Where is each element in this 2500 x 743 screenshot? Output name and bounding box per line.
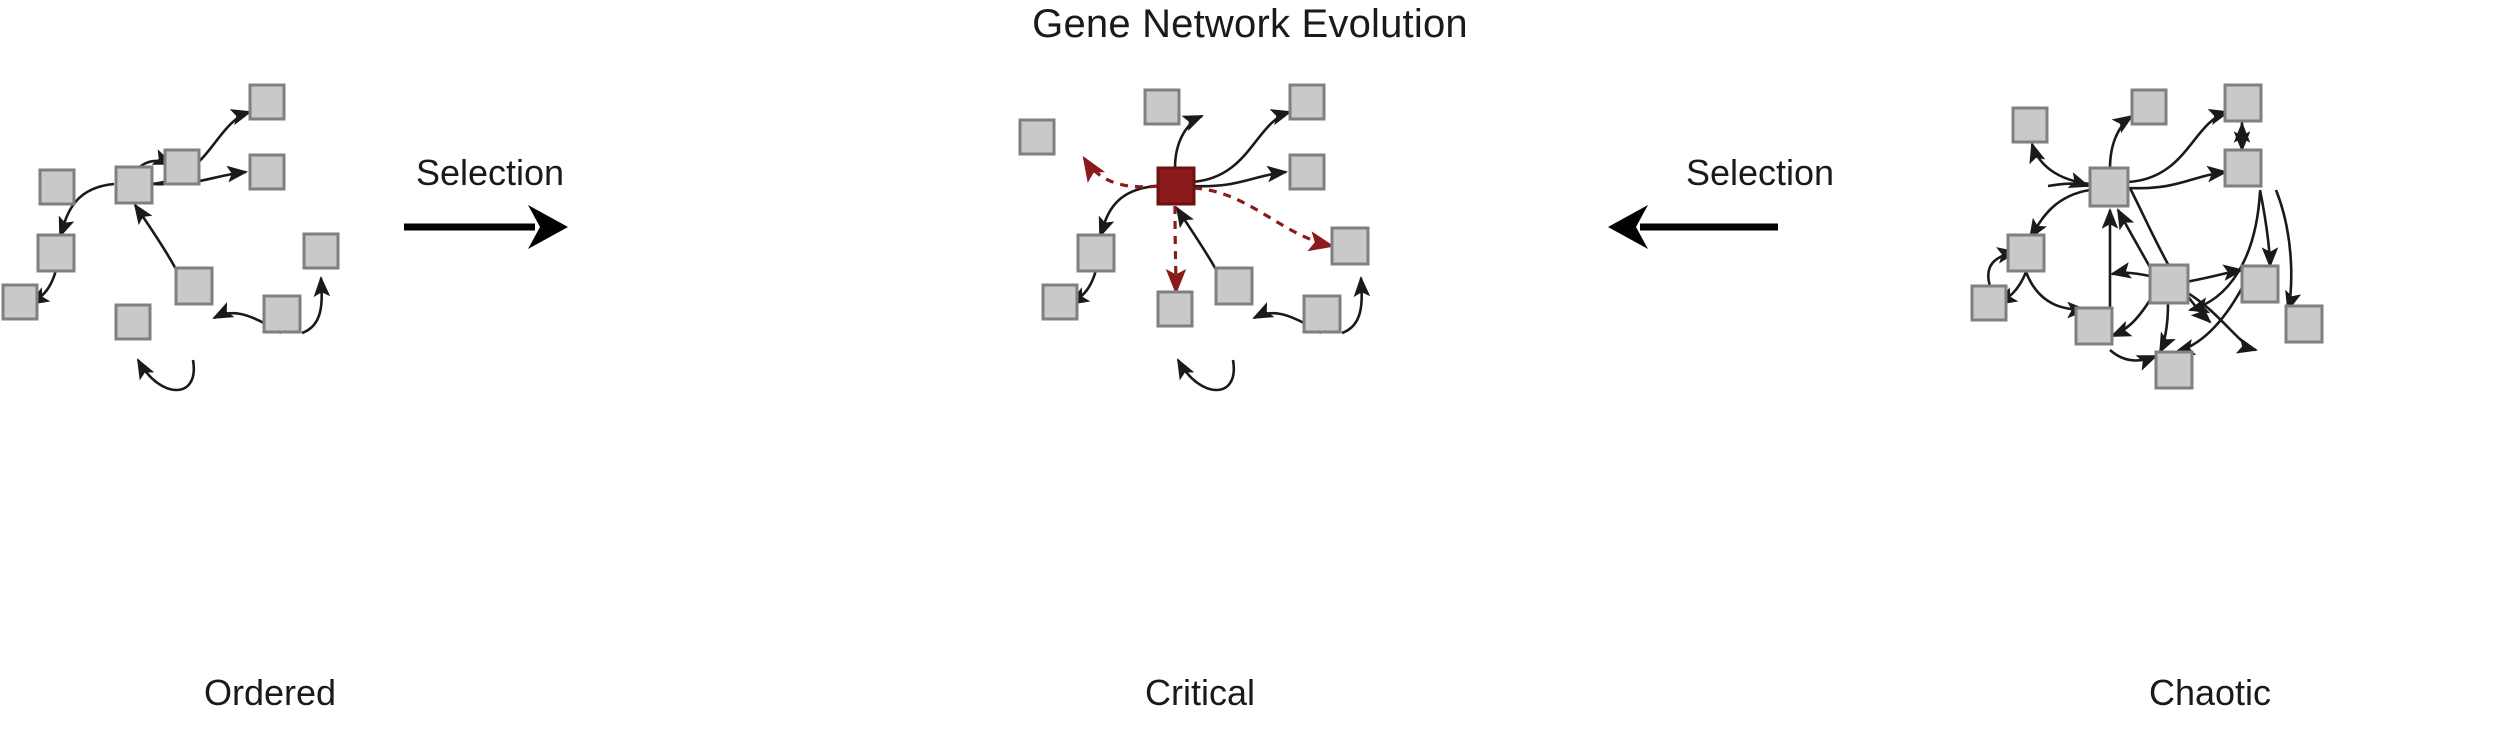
selection-arrow-right — [400, 195, 640, 265]
node-group-chaotic — [1972, 85, 2322, 388]
edge — [2112, 300, 2150, 336]
gene-node[interactable] — [2008, 235, 2044, 271]
diagram-canvas: Gene Network Evolution — [0, 0, 2500, 743]
edge — [2110, 350, 2156, 361]
gene-node[interactable] — [1304, 296, 1340, 332]
gene-node[interactable] — [1290, 85, 1324, 119]
gene-node[interactable] — [165, 150, 199, 184]
gene-node[interactable] — [2013, 108, 2047, 142]
edge — [2032, 144, 2090, 184]
page-title: Gene Network Evolution — [0, 2, 2500, 47]
edge — [2026, 272, 2086, 310]
edge — [1192, 112, 1290, 182]
gene-node[interactable] — [2242, 266, 2278, 302]
caption-critical: Critical — [1000, 672, 1400, 714]
gene-node[interactable] — [176, 268, 212, 304]
caption-ordered: Ordered — [20, 672, 520, 714]
gene-node[interactable] — [1020, 120, 1054, 154]
network-ordered — [0, 60, 420, 720]
edge — [1178, 360, 1234, 390]
edge — [138, 360, 194, 390]
edge — [1100, 186, 1156, 236]
gene-node[interactable] — [38, 235, 74, 271]
gene-node-critical-highlight[interactable] — [1158, 168, 1194, 204]
caption-chaotic: Chaotic — [1960, 672, 2460, 714]
gene-node[interactable] — [116, 167, 152, 203]
edge — [2160, 304, 2168, 352]
gene-node[interactable] — [250, 85, 284, 119]
selection-arrow-left — [1600, 195, 1840, 265]
gene-node[interactable] — [3, 285, 37, 319]
edge — [1342, 278, 1362, 333]
selection-label-right: Selection — [1600, 152, 1920, 194]
selection-label-left: Selection — [380, 152, 600, 194]
gene-node[interactable] — [2156, 352, 2192, 388]
gene-node[interactable] — [1972, 286, 2006, 320]
gene-node[interactable] — [2286, 306, 2322, 342]
gene-node[interactable] — [40, 170, 74, 204]
network-chaotic — [1960, 60, 2490, 720]
edge-highlight — [1084, 158, 1158, 187]
gene-node[interactable] — [116, 305, 150, 339]
gene-node[interactable] — [1145, 90, 1179, 124]
gene-node[interactable] — [1332, 228, 1368, 264]
node-group-ordered — [3, 85, 338, 339]
gene-node[interactable] — [1216, 268, 1252, 304]
gene-node[interactable] — [264, 296, 300, 332]
gene-node[interactable] — [2150, 265, 2188, 303]
gene-node[interactable] — [1078, 235, 1114, 271]
edge — [2112, 273, 2150, 276]
edge — [2048, 184, 2088, 186]
gene-node[interactable] — [1043, 285, 1077, 319]
edge — [2030, 190, 2090, 238]
edge — [302, 278, 322, 333]
gene-node[interactable] — [2225, 85, 2261, 121]
gene-node[interactable] — [2076, 308, 2112, 344]
gene-node[interactable] — [2132, 90, 2166, 124]
gene-node[interactable] — [2090, 168, 2128, 206]
edge-highlight — [1175, 206, 1176, 292]
gene-node[interactable] — [250, 155, 284, 189]
edge — [2260, 190, 2270, 266]
gene-node[interactable] — [1158, 292, 1192, 326]
edge-highlight — [1194, 188, 1332, 246]
gene-node[interactable] — [304, 234, 338, 268]
gene-node[interactable] — [1290, 155, 1324, 189]
gene-node[interactable] — [2225, 150, 2261, 186]
network-critical — [980, 60, 1440, 720]
edge — [2110, 116, 2132, 168]
